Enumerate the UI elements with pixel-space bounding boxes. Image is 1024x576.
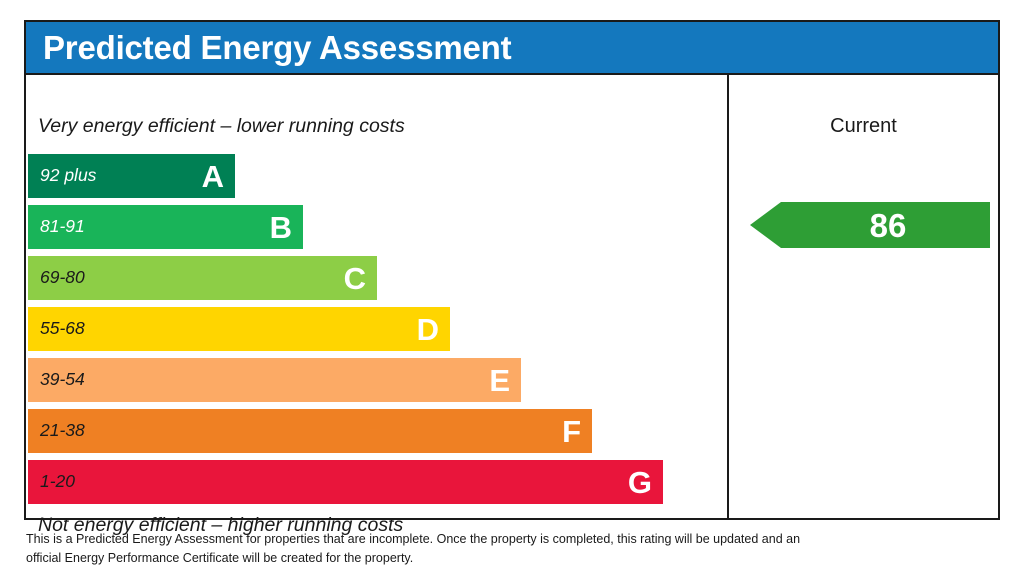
band-bar-e: 39-54 E (28, 358, 521, 402)
band-bar-f: 21-38 F (28, 409, 592, 453)
band-range-e: 39-54 (28, 371, 85, 389)
band-range-b: 81-91 (28, 218, 85, 236)
caption-very-efficient: Very energy efficient – lower running co… (38, 115, 405, 138)
band-range-d: 55-68 (28, 320, 85, 338)
current-rating-column: Current 86 (729, 75, 998, 518)
title-bar: Predicted Energy Assessment (26, 22, 998, 75)
band-letter-g: G (628, 467, 663, 498)
band-bar-d: 55-68 D (28, 307, 450, 351)
band-letter-c: C (344, 263, 377, 294)
certificate-body: Very energy efficient – lower running co… (26, 75, 998, 518)
current-rating-value: 86 (750, 202, 990, 248)
band-bar-c: 69-80 C (28, 256, 377, 300)
epc-certificate: Predicted Energy Assessment Very energy … (0, 0, 1024, 576)
current-column-heading: Current (729, 115, 998, 138)
band-range-a: 92 plus (28, 167, 96, 185)
band-letter-e: E (489, 365, 521, 396)
band-range-c: 69-80 (28, 269, 85, 287)
band-letter-a: A (202, 161, 235, 192)
footer-line-2: official Energy Performance Certificate … (26, 549, 966, 568)
band-letter-f: F (562, 416, 592, 447)
band-bar-g: 1-20 G (28, 460, 663, 504)
certificate-frame: Predicted Energy Assessment Very energy … (24, 20, 1000, 520)
band-letter-d: D (417, 314, 450, 345)
current-rating-arrow: 86 (750, 202, 990, 248)
band-range-f: 21-38 (28, 422, 85, 440)
band-bar-a: 92 plus A (28, 154, 235, 198)
footer-line-1: This is a Predicted Energy Assessment fo… (26, 530, 966, 549)
energy-rating-chart: Very energy efficient – lower running co… (26, 75, 727, 518)
band-letter-b: B (270, 212, 303, 243)
band-bar-b: 81-91 B (28, 205, 303, 249)
footer-disclaimer: This is a Predicted Energy Assessment fo… (26, 530, 966, 569)
page-title: Predicted Energy Assessment (26, 31, 511, 64)
band-range-g: 1-20 (28, 473, 75, 491)
